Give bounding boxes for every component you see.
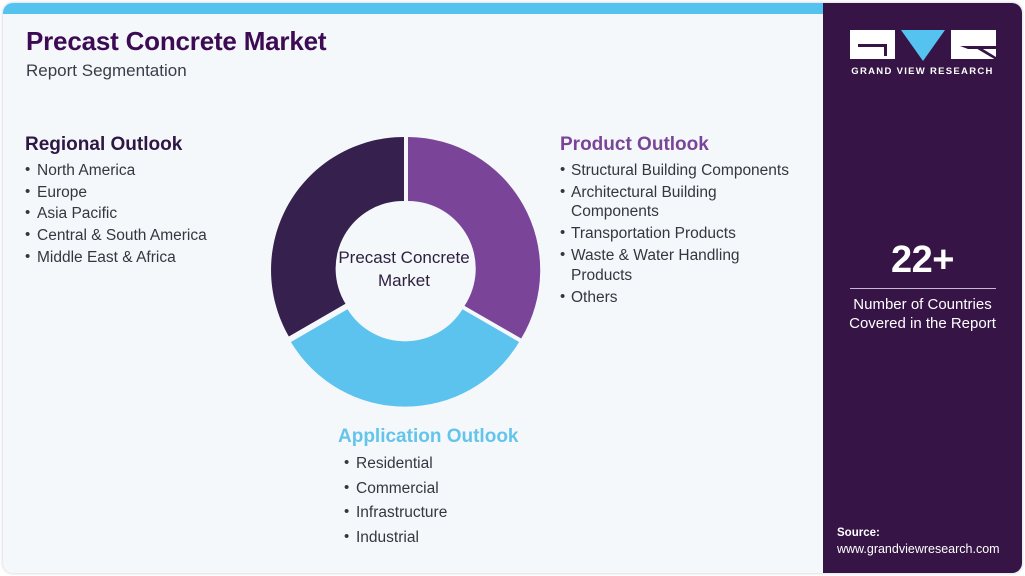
list-item: Residential [333,453,603,476]
page-title: Precast Concrete Market [26,27,626,56]
brand-logo: GRAND VIEW RESEARCH [823,30,1022,77]
source-title: Source: [837,526,1022,541]
list-item: Industrial [333,527,603,550]
list-item: Waste & Water Handling Products [560,246,805,286]
stat-label-line2: Covered in the Report [849,315,996,332]
top-accent-bar [3,3,824,14]
source-block: Source: www.grandviewresearch.com [837,526,1022,557]
donut-segment-application [291,309,519,406]
brand-logo-text: GRAND VIEW RESEARCH [823,66,1022,77]
donut-svg [265,131,543,409]
list-item: Infrastructure [333,502,603,525]
regional-outlook-heading: Regional Outlook [25,134,275,157]
list-item: Asia Pacific [25,204,275,224]
side-panel: GRAND VIEW RESEARCH 22+ Number of Countr… [823,3,1022,573]
application-outlook-list: Residential Commercial Infrastructure In… [333,453,603,550]
donut-segment-regional [271,137,404,337]
list-item: Europe [25,183,275,203]
list-item: Commercial [333,478,603,501]
segmentation-donut-chart: Precast Concrete Market [265,131,543,409]
product-outlook-heading: Product Outlook [560,134,805,157]
infographic-card: Precast Concrete Market Report Segmentat… [3,3,1022,573]
application-outlook-heading: Application Outlook [338,426,603,449]
list-item: Architectural Building Components [560,183,805,223]
header: Precast Concrete Market Report Segmentat… [26,27,626,80]
countries-stat: 22+ Number of Countries Covered in the R… [823,241,1022,334]
gvr-logo-icon [850,30,996,61]
product-outlook-list: Structural Building Components Architect… [560,161,805,308]
stat-divider [850,288,996,289]
infographic-root: Precast Concrete Market Report Segmentat… [0,0,1025,576]
list-item: Structural Building Components [560,161,805,181]
list-item: Central & South America [25,226,275,246]
list-item: Others [560,288,805,308]
stat-label-line1: Number of Countries [853,296,991,313]
application-outlook-block: Application Outlook Residential Commerci… [333,426,603,552]
donut-segment-product [408,137,540,339]
product-outlook-block: Product Outlook Structural Building Comp… [560,134,805,310]
stat-value: 22+ [823,241,1022,279]
page-subtitle: Report Segmentation [26,62,626,81]
regional-outlook-block: Regional Outlook North America Europe As… [25,134,275,270]
list-item: Middle East & Africa [25,248,275,268]
stat-label: Number of Countries Covered in the Repor… [823,296,1022,334]
source-url[interactable]: www.grandviewresearch.com [837,541,1022,557]
regional-outlook-list: North America Europe Asia Pacific Centra… [25,161,275,268]
list-item: Transportation Products [560,224,805,244]
list-item: North America [25,161,275,181]
